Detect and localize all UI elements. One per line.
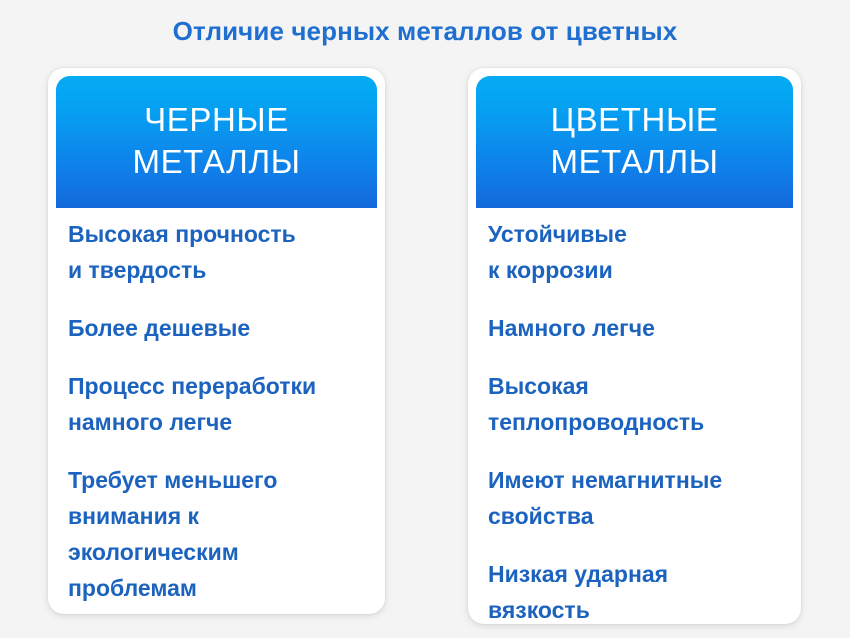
list-item: Низкая ударная вязкость — [488, 556, 787, 624]
list-item: Высокая теплопроводность — [488, 368, 787, 440]
card-header-ferrous-line-1: ЧЕРНЫЕ — [144, 99, 289, 141]
feature-line: проблемам — [68, 570, 371, 606]
list-item: Процесс переработки намного легче — [68, 368, 371, 440]
feature-line: к коррозии — [488, 252, 787, 288]
list-item: Имеют немагнитные свойства — [488, 462, 787, 534]
card-header-non-ferrous-line-2: МЕТАЛЛЫ — [550, 141, 718, 183]
feature-line: экологическим — [68, 534, 371, 570]
card-header-ferrous-line-2: МЕТАЛЛЫ — [132, 141, 300, 183]
list-item: Намного легче — [488, 310, 787, 346]
list-item: Высокая прочность и твердость — [68, 216, 371, 288]
feature-line: Высокая — [488, 368, 787, 404]
feature-line: Более дешевые — [68, 310, 371, 346]
list-item: Требует меньшего внимания к экологически… — [68, 462, 371, 606]
feature-line: намного легче — [68, 404, 371, 440]
card-non-ferrous-metals: ЦВЕТНЫЕ МЕТАЛЛЫ Устойчивые к коррозии На… — [468, 68, 801, 624]
card-header-non-ferrous: ЦВЕТНЫЕ МЕТАЛЛЫ — [476, 76, 793, 208]
feature-line: Низкая ударная — [488, 556, 787, 592]
feature-line: вязкость — [488, 592, 787, 624]
feature-line: свойства — [488, 498, 787, 534]
feature-line: Процесс переработки — [68, 368, 371, 404]
page-title: Отличие черных металлов от цветных — [0, 0, 850, 62]
card-header-ferrous: ЧЕРНЫЕ МЕТАЛЛЫ — [56, 76, 377, 208]
feature-line: Устойчивые — [488, 216, 787, 252]
feature-line: внимания к — [68, 498, 371, 534]
card-ferrous-metals: ЧЕРНЫЕ МЕТАЛЛЫ Высокая прочность и тверд… — [48, 68, 385, 614]
list-item: Устойчивые к коррозии — [488, 216, 787, 288]
feature-line: теплопроводность — [488, 404, 787, 440]
feature-line: Высокая прочность — [68, 216, 371, 252]
feature-line: Имеют немагнитные — [488, 462, 787, 498]
feature-list-ferrous: Высокая прочность и твердость Более деше… — [48, 216, 385, 606]
feature-line: и твердость — [68, 252, 371, 288]
card-header-non-ferrous-line-1: ЦВЕТНЫЕ — [551, 99, 719, 141]
list-item: Более дешевые — [68, 310, 371, 346]
feature-line: Требует меньшего — [68, 462, 371, 498]
feature-line: Намного легче — [488, 310, 787, 346]
feature-list-non-ferrous: Устойчивые к коррозии Намного легче Высо… — [468, 216, 801, 624]
